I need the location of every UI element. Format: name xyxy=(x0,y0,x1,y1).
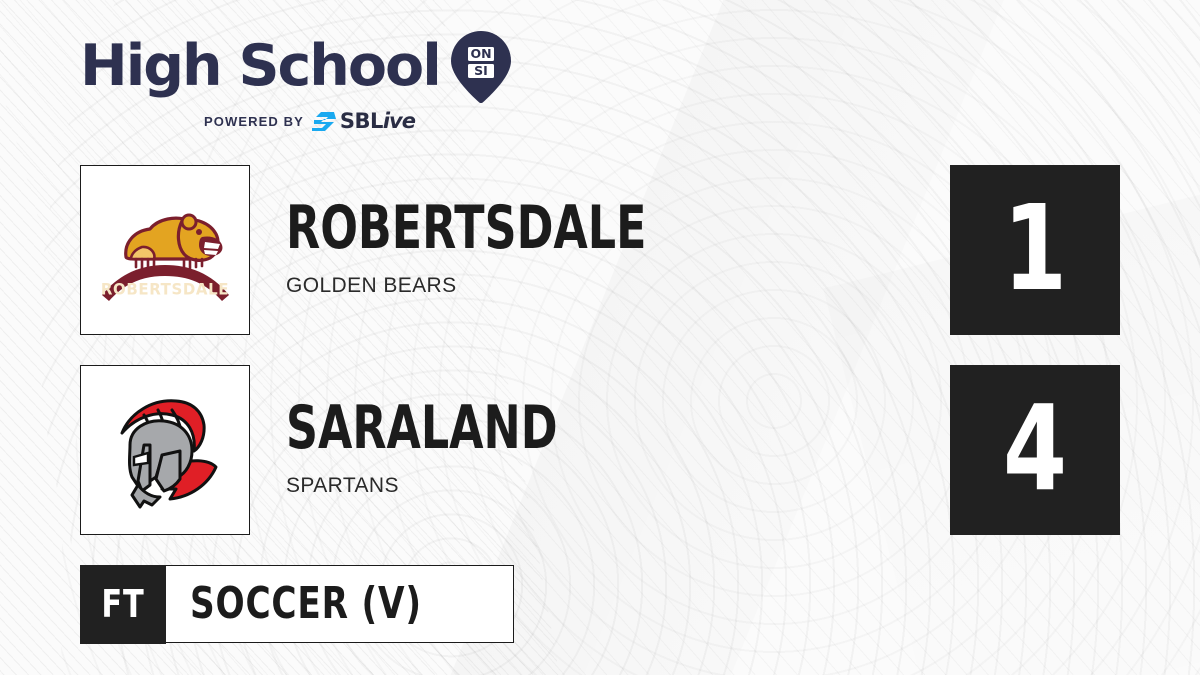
robertsdale-golden-bears-logo: ROBERTSDALE xyxy=(80,165,250,335)
powered-by-row: POWERED BY SBLive xyxy=(80,110,510,132)
team-row: SARALAND SPARTANS 4 xyxy=(0,365,1200,535)
sblive-wordmark-italic: ive xyxy=(383,109,415,133)
powered-by-label: POWERED BY xyxy=(204,114,304,129)
status-badge: FT xyxy=(80,565,166,644)
sport-label-container: SOCCER (V) xyxy=(166,566,513,642)
team-name: SARALAND xyxy=(286,399,745,458)
svg-text:SI: SI xyxy=(474,63,488,78)
saraland-spartans-logo xyxy=(80,365,250,535)
sblive-s-icon xyxy=(312,110,336,132)
team-score: 4 xyxy=(1003,389,1067,507)
team-row: ROBERTSDALE ROBERTSDALE GOLDEN BEARS 1 xyxy=(0,165,1200,335)
status-period-label: FT xyxy=(101,585,144,623)
brand-wordmark: High School xyxy=(80,38,440,95)
location-pin-icon: ON SI xyxy=(450,30,512,104)
sport-label: SOCCER (V) xyxy=(190,582,422,626)
team-score-box: 1 xyxy=(950,165,1120,335)
team-identity: SARALAND SPARTANS xyxy=(286,399,906,498)
svg-text:ON: ON xyxy=(470,46,491,61)
team-identity: ROBERTSDALE GOLDEN BEARS xyxy=(286,199,906,298)
brand-logo-row: High School ON SI xyxy=(80,34,510,98)
scoreboard-graphic: High School ON SI POWERED BY xyxy=(0,0,1200,675)
team-score: 1 xyxy=(1003,189,1067,307)
svg-text:ROBERTSDALE: ROBERTSDALE xyxy=(101,280,229,298)
game-status-bar: FT SOCCER (V) xyxy=(80,565,514,643)
sblive-wordmark-bold: SBL xyxy=(340,109,383,133)
team-score-box: 4 xyxy=(950,365,1120,535)
sblive-logo: SBLive xyxy=(312,110,415,132)
team-mascot: SPARTANS xyxy=(286,474,906,498)
sblive-wordmark: SBLive xyxy=(340,111,415,132)
team-mascot: GOLDEN BEARS xyxy=(286,274,906,298)
brand-header: High School ON SI POWERED BY xyxy=(80,34,510,134)
team-name: ROBERTSDALE xyxy=(286,199,745,258)
